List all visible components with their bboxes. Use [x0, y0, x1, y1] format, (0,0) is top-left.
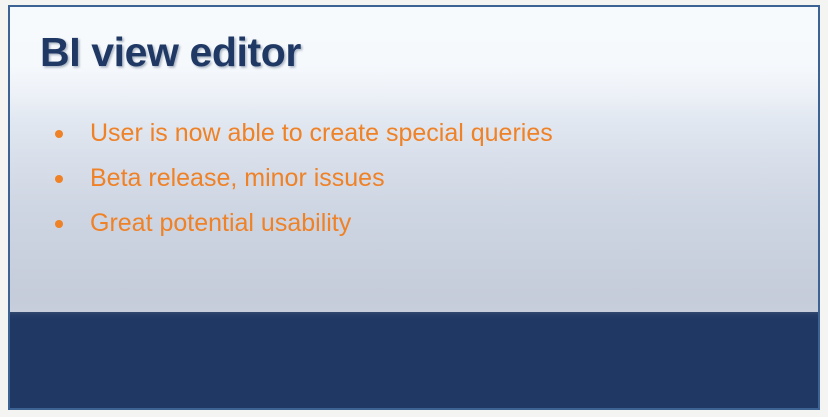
- bullet-list: User is now able to create special queri…: [46, 111, 778, 246]
- slide-title[interactable]: BI view editor: [40, 24, 778, 80]
- slide-footer-band: [10, 312, 818, 408]
- bullet-dot-icon: [55, 175, 63, 183]
- bullet-dot-icon: [55, 130, 63, 138]
- list-item[interactable]: Great potential usability: [46, 201, 778, 246]
- slide-canvas: BI view editor User is now able to creat…: [0, 0, 828, 417]
- bullet-item-label: Great potential usability: [90, 201, 351, 246]
- list-item[interactable]: Beta release, minor issues: [46, 156, 778, 201]
- list-item[interactable]: User is now able to create special queri…: [46, 111, 778, 156]
- bullet-dot-icon: [55, 220, 63, 228]
- presentation-slide[interactable]: BI view editor User is now able to creat…: [8, 5, 820, 410]
- title-block: BI view editor: [40, 24, 778, 84]
- bullet-item-label: Beta release, minor issues: [90, 156, 385, 201]
- bullet-item-label: User is now able to create special queri…: [90, 111, 553, 156]
